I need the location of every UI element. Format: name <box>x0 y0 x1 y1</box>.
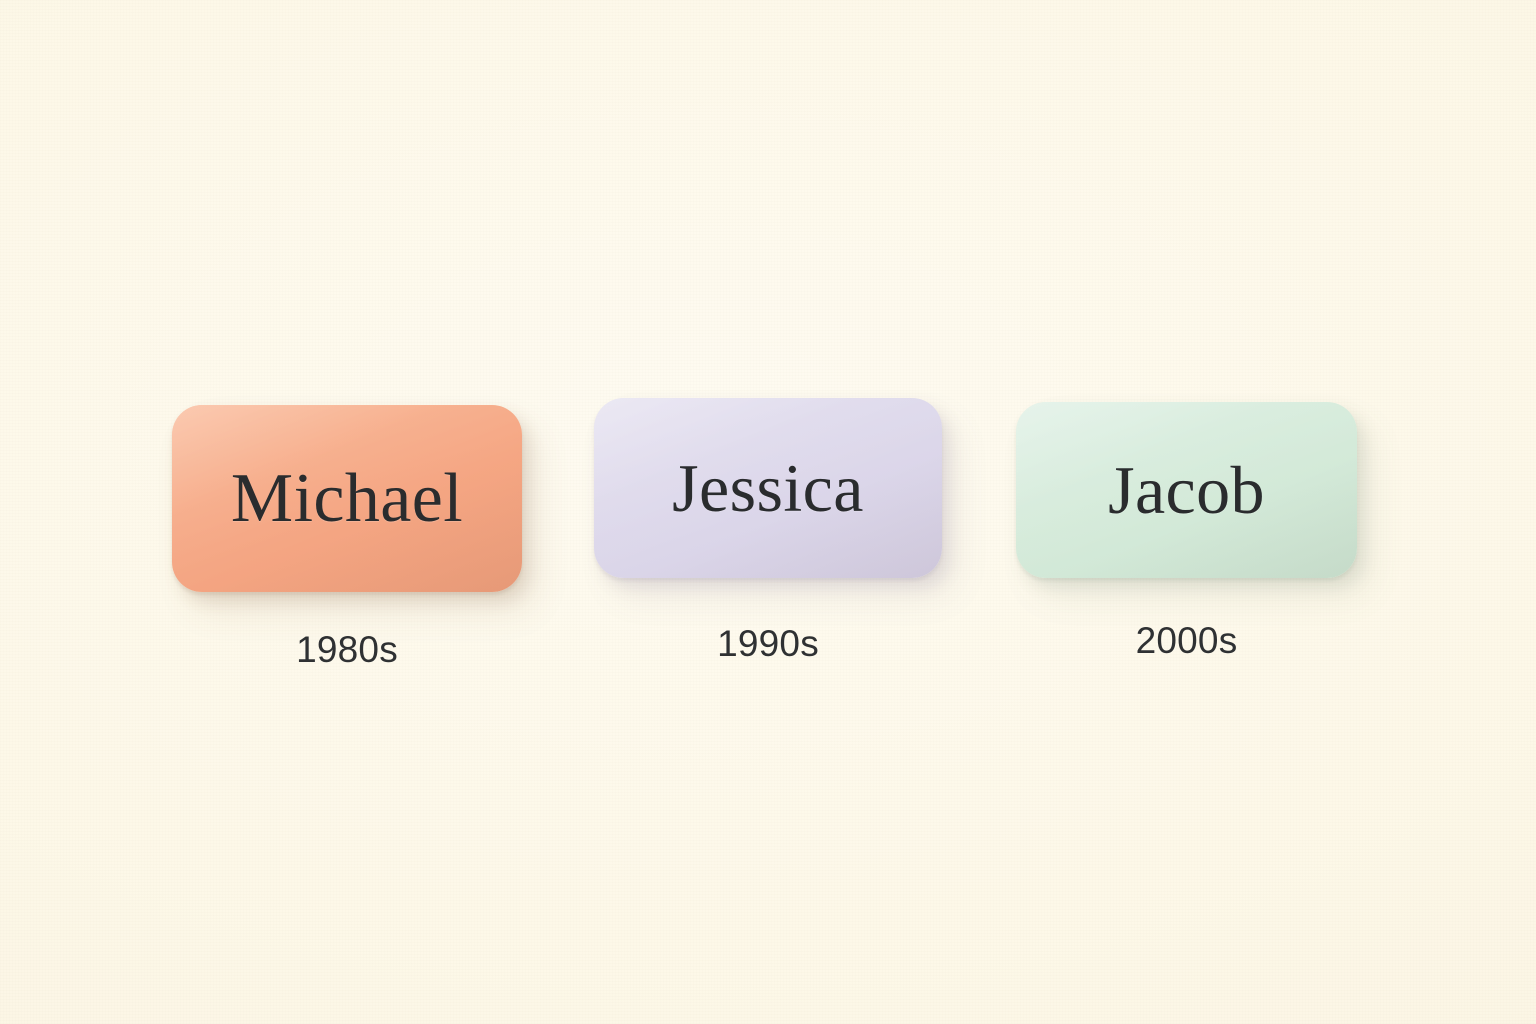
name-card-row: Michael 1980s Jessica 1990s Jacob 2000s <box>0 0 1536 1024</box>
name-card-group-2000s: Jacob 2000s <box>1016 402 1357 659</box>
name-card-label: Michael <box>231 464 463 534</box>
decade-label-1980s: 1980s <box>172 631 522 668</box>
name-card-label: Jacob <box>1108 456 1265 524</box>
name-card-jessica[interactable]: Jessica <box>594 398 942 578</box>
name-card-label: Jessica <box>672 454 864 522</box>
name-card-group-1990s: Jessica 1990s <box>594 398 942 662</box>
name-card-michael[interactable]: Michael <box>172 405 522 592</box>
decade-label-2000s: 2000s <box>1016 622 1357 659</box>
decade-label-1990s: 1990s <box>594 625 942 662</box>
name-card-jacob[interactable]: Jacob <box>1016 402 1357 578</box>
name-card-group-1980s: Michael 1980s <box>172 405 522 668</box>
